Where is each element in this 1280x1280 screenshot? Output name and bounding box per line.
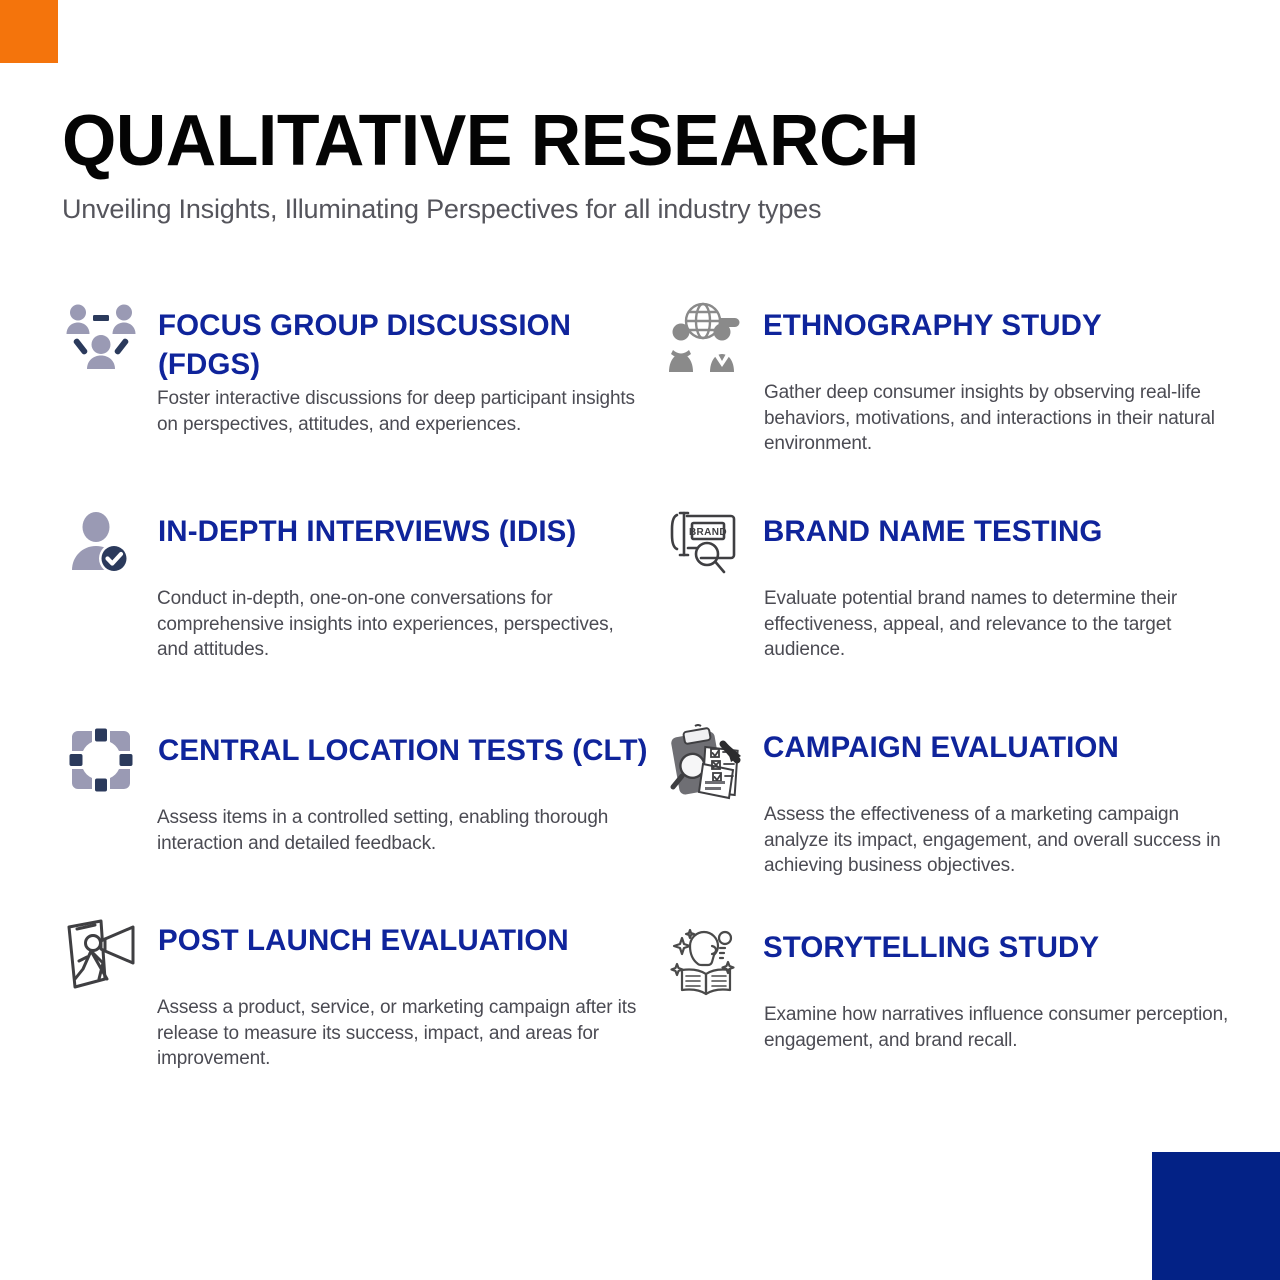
item-header: CENTRAL LOCATION TESTS (CLT) bbox=[58, 725, 658, 803]
phone-megaphone-icon bbox=[58, 915, 144, 993]
item-header: ETHNOGRAPHY STUDY bbox=[663, 300, 1263, 378]
item-title: CENTRAL LOCATION TESTS (CLT) bbox=[158, 731, 658, 770]
item-title: CAMPAIGN EVALUATION bbox=[763, 728, 1263, 767]
brand-icon-label: BRAND bbox=[689, 527, 727, 538]
header: QUALITATIVE RESEARCH Unveiling Insights,… bbox=[62, 104, 1222, 226]
right-column: ETHNOGRAPHY STUDY Gather deep consumer i… bbox=[663, 300, 1263, 1053]
lifebuoy-ring-icon bbox=[58, 725, 144, 803]
list-item: BRAND BRAND NAME TESTING Evaluate potent… bbox=[663, 506, 1263, 722]
blue-corner-accent bbox=[1152, 1152, 1280, 1280]
item-title: ETHNOGRAPHY STUDY bbox=[763, 306, 1263, 345]
item-title: POST LAUNCH EVALUATION bbox=[158, 921, 658, 960]
brand-magnifier-icon: BRAND bbox=[663, 506, 749, 584]
list-item: STORYTELLING STUDY Examine how narrative… bbox=[663, 922, 1263, 1053]
three-people-network-icon bbox=[58, 300, 144, 378]
item-description: Assess items in a controlled setting, en… bbox=[157, 805, 637, 856]
item-header: CAMPAIGN EVALUATION bbox=[663, 722, 1263, 800]
list-item: CAMPAIGN EVALUATION Assess the effective… bbox=[663, 722, 1263, 922]
item-header: BRAND BRAND NAME TESTING bbox=[663, 506, 1263, 584]
list-item: POST LAUNCH EVALUATION Assess a product,… bbox=[58, 915, 658, 1072]
item-description: Foster interactive discussions for deep … bbox=[157, 386, 637, 437]
item-description: Evaluate potential brand names to determ… bbox=[764, 586, 1234, 663]
item-header: IN-DEPTH INTERVIEWS (IDIs) bbox=[58, 506, 658, 584]
globe-two-people-icon bbox=[663, 300, 749, 378]
item-description: Assess a product, service, or marketing … bbox=[157, 995, 637, 1072]
item-title: BRAND NAME TESTING bbox=[763, 512, 1263, 551]
list-item: IN-DEPTH INTERVIEWS (IDIs) Conduct in-de… bbox=[58, 506, 658, 725]
item-title: STORYTELLING STUDY bbox=[763, 928, 1263, 967]
item-title: FOCUS GROUP DISCUSSION (FDGs) bbox=[158, 306, 658, 384]
person-check-badge-icon bbox=[58, 506, 144, 584]
list-item: FOCUS GROUP DISCUSSION (FDGs) Foster int… bbox=[58, 300, 658, 506]
item-header: POST LAUNCH EVALUATION bbox=[58, 915, 658, 993]
item-description: Conduct in-depth, one-on-one conversatio… bbox=[157, 586, 637, 663]
clipboard-checklist-pencil-icon bbox=[663, 722, 749, 800]
item-description: Assess the effectiveness of a marketing … bbox=[764, 802, 1234, 879]
orange-corner-accent bbox=[0, 0, 58, 63]
item-description: Gather deep consumer insights by observi… bbox=[764, 380, 1234, 457]
item-title: IN-DEPTH INTERVIEWS (IDIs) bbox=[158, 512, 658, 551]
page-title: QUALITATIVE RESEARCH bbox=[62, 104, 1187, 178]
item-header: STORYTELLING STUDY bbox=[663, 922, 1263, 1000]
page-subtitle: Unveiling Insights, Illuminating Perspec… bbox=[62, 192, 1222, 226]
list-item: CENTRAL LOCATION TESTS (CLT) Assess item… bbox=[58, 725, 658, 915]
list-item: ETHNOGRAPHY STUDY Gather deep consumer i… bbox=[663, 300, 1263, 506]
open-book-idea-icon bbox=[663, 922, 749, 1000]
item-header: FOCUS GROUP DISCUSSION (FDGs) bbox=[58, 300, 658, 384]
item-description: Examine how narratives influence consume… bbox=[764, 1002, 1234, 1053]
left-column: FOCUS GROUP DISCUSSION (FDGs) Foster int… bbox=[58, 300, 658, 1072]
infographic-page: QUALITATIVE RESEARCH Unveiling Insights,… bbox=[0, 0, 1280, 1280]
